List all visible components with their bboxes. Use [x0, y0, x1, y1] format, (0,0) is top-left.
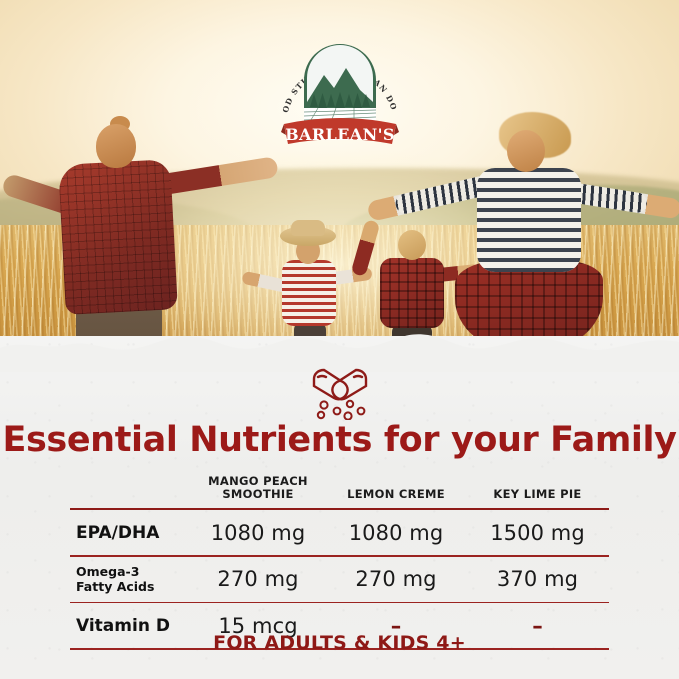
cell-omega3-key-lime: 370 mg	[466, 567, 609, 591]
logo-brand-text: BARLEAN'S	[285, 125, 395, 144]
cell-epa-dha-lemon-creme: 1080 mg	[326, 521, 466, 545]
cell-omega3-mango-peach: 270 mg	[190, 567, 326, 591]
header-cell-mango-peach-smoothie: MANGO PEACH SMOOTHIE	[190, 475, 326, 508]
cell-epa-dha-mango-peach: 1080 mg	[190, 521, 326, 545]
header-cell-key-lime-pie: KEY LIME PIE	[466, 488, 609, 508]
row-label-epa-dha: EPA/DHA	[70, 523, 190, 543]
header-cell-lemon-creme: LEMON CREME	[326, 488, 466, 508]
barleans-logo: WE MAKE GOOD STUFF SO YOU CAN DO GOOD ST…	[274, 28, 406, 150]
figure-woman	[391, 96, 657, 358]
figure-man	[18, 62, 268, 352]
nutrient-comparison-table: MANGO PEACH SMOOTHIE LEMON CREME KEY LIM…	[70, 468, 609, 650]
table-row: EPA/DHA 1080 mg 1080 mg 1500 mg	[70, 510, 609, 555]
cell-epa-dha-key-lime: 1500 mg	[466, 521, 609, 545]
panel-content: Essential Nutrients for your Family MANG…	[0, 336, 679, 679]
table-row: Omega-3 Fatty Acids 270 mg 270 mg 370 mg	[70, 557, 609, 602]
row-label-omega-3: Omega-3 Fatty Acids	[70, 564, 190, 595]
product-infographic: WE MAKE GOOD STUFF SO YOU CAN DO GOOD ST…	[0, 0, 679, 679]
cell-omega3-lemon-creme: 270 mg	[326, 567, 466, 591]
age-footnote: FOR ADULTS & KIDS 4+	[0, 632, 679, 654]
header-cell-nutrient	[70, 502, 190, 508]
crossed-softgel-capsules-with-droplets-icon	[292, 364, 388, 420]
table-header-row: MANGO PEACH SMOOTHIE LEMON CREME KEY LIM…	[70, 468, 609, 508]
page-title: Essential Nutrients for your Family	[0, 420, 679, 460]
